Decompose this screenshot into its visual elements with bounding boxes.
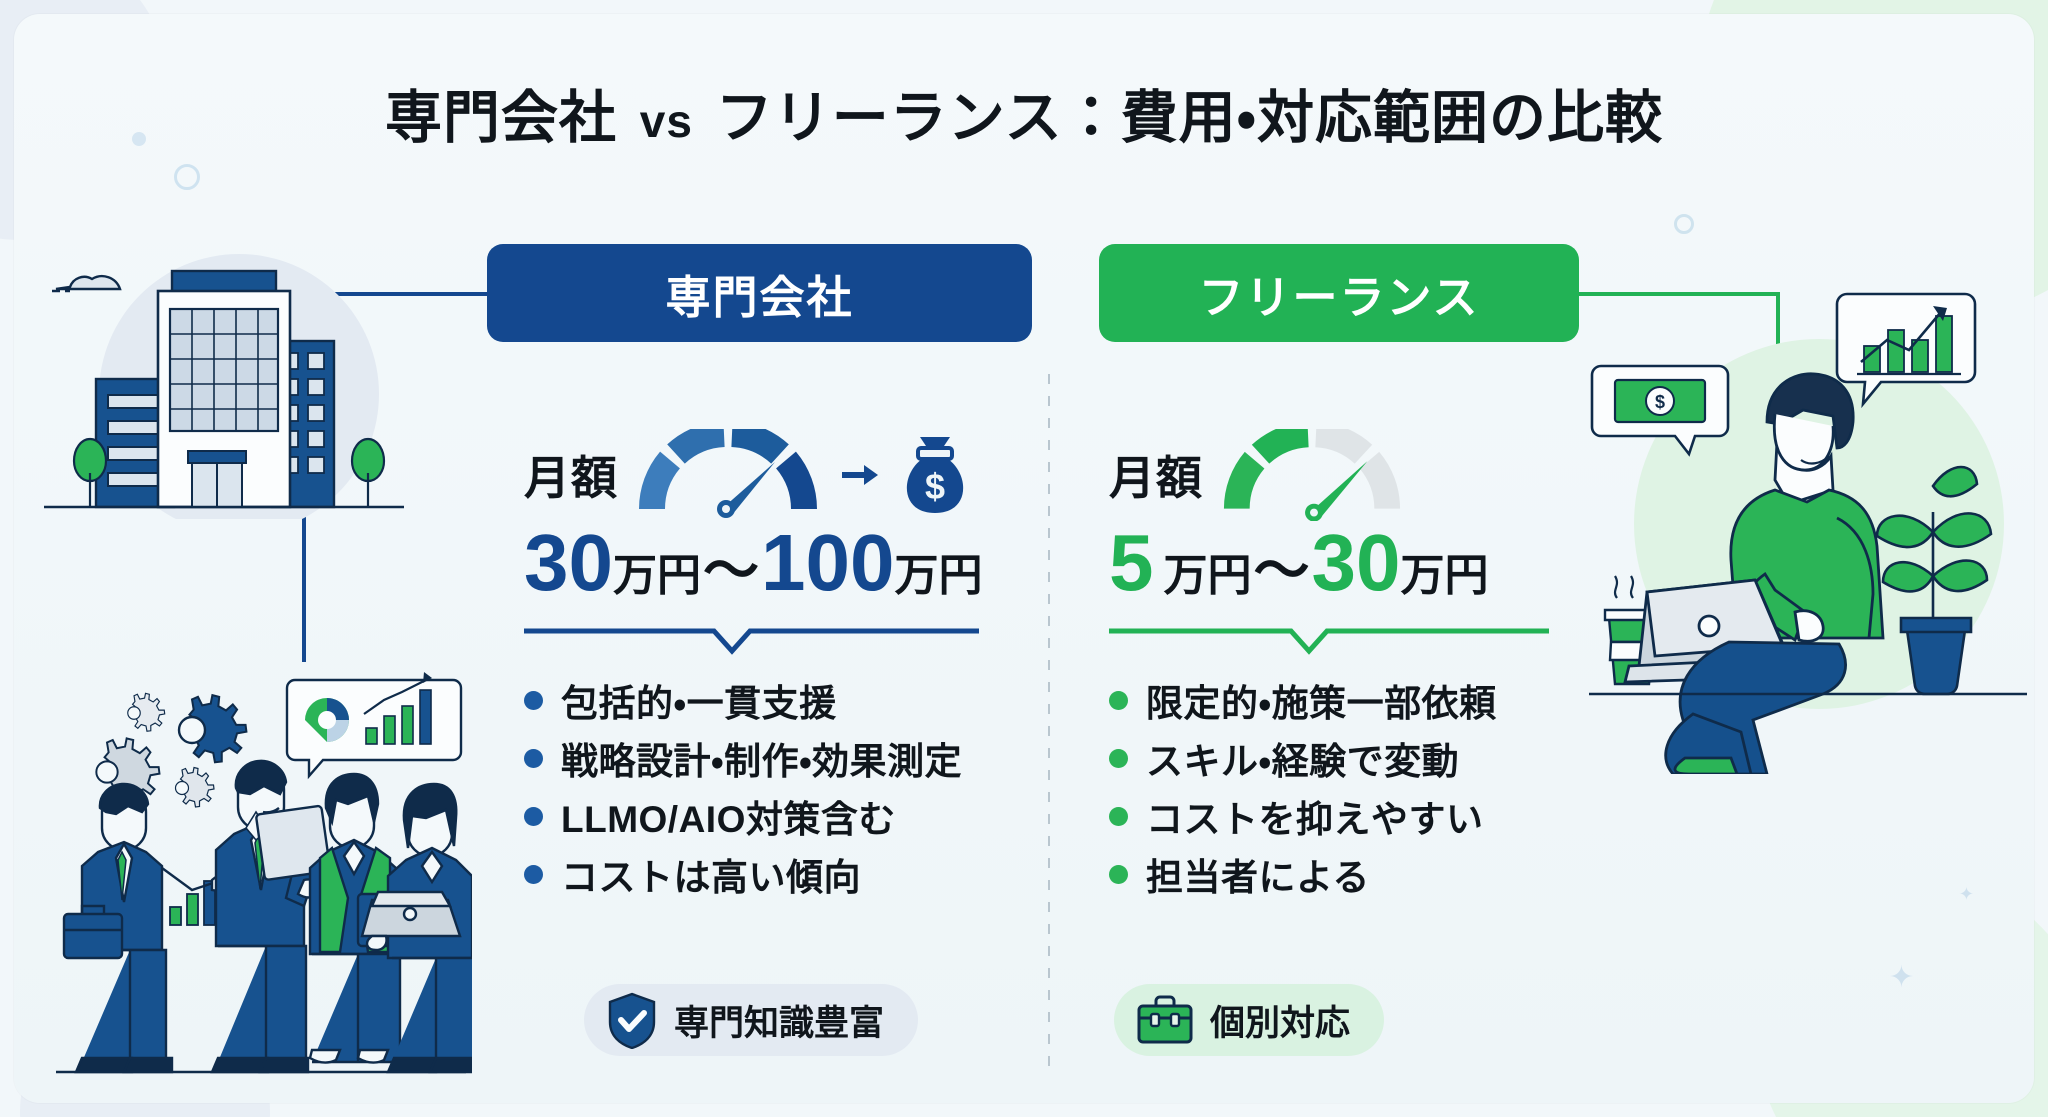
list-item-label: コストを抑えやすい bbox=[1146, 789, 1484, 843]
highlight-chip-specialized-company[interactable]: 専門知識豊富 bbox=[584, 984, 918, 1056]
list-item: 戦略設計・制作・効果測定 bbox=[524, 729, 1024, 787]
column-badge-freelance[interactable]: フリーランス bbox=[1099, 244, 1579, 342]
feature-list: 限定的・施策一部依頼 スキル・経験で変動 コストを抑えやすい 担当者による bbox=[1109, 671, 1599, 903]
page-title-part1: 専門会社 bbox=[385, 86, 617, 150]
list-item: スキル・経験で変動 bbox=[1109, 729, 1599, 787]
list-item-label: 包括的・一貫支援 bbox=[561, 673, 837, 727]
column-content-freelance: 月額 5 万円 〜 30 bbox=[1109, 429, 1599, 903]
arrow-right-icon bbox=[838, 455, 882, 495]
bullet-dot-icon bbox=[524, 749, 543, 768]
list-item-label: LLMO/AIO対策含む bbox=[561, 789, 896, 843]
price-min: 30 bbox=[524, 523, 613, 603]
office-building-illustration bbox=[34, 229, 414, 519]
gauge-icon bbox=[1217, 429, 1407, 521]
list-item: LLMO/AIO対策含む bbox=[524, 787, 1024, 845]
list-item-label: スキル・経験で変動 bbox=[1146, 731, 1459, 785]
bullet-dot-icon bbox=[1109, 749, 1128, 768]
price-min-unit: 万円 bbox=[1164, 554, 1252, 598]
list-item: 担当者による bbox=[1109, 845, 1599, 903]
price-separator: 〜 bbox=[1254, 543, 1310, 599]
highlight-chip-freelance[interactable]: 個別対応 bbox=[1114, 984, 1384, 1056]
shield-check-icon bbox=[606, 991, 658, 1049]
price-max-unit: 万円 bbox=[1400, 554, 1488, 598]
list-item-label: 担当者による bbox=[1146, 847, 1370, 901]
price-header: 月額 bbox=[1109, 429, 1599, 521]
column-badge-label: 専門会社 bbox=[665, 261, 853, 326]
price-range: 5 万円 〜 30 万円 bbox=[1109, 523, 1599, 603]
list-item-label: 限定的・施策一部依頼 bbox=[1146, 673, 1497, 727]
section-separator bbox=[1109, 625, 1549, 655]
price-range: 30 万円 〜 100 万円 bbox=[524, 523, 1024, 603]
freelancer-working-illustration: $ bbox=[1589, 274, 2029, 774]
highlight-chip-label: 個別対応 bbox=[1210, 995, 1350, 1046]
page-title-part2: フリーランス：費用・対応範囲の比較 bbox=[716, 86, 1663, 150]
bullet-dot-icon bbox=[524, 691, 543, 710]
price-max-unit: 万円 bbox=[894, 554, 982, 598]
feature-list: 包括的・一貫支援 戦略設計・制作・効果測定 LLMO/AIO対策含む コストは高… bbox=[524, 671, 1024, 903]
price-label: 月額 bbox=[1109, 442, 1203, 508]
sparkle-small-icon: ✦ bbox=[1959, 885, 1974, 903]
chart-bubble-icon bbox=[287, 672, 461, 776]
price-header: 月額 bbox=[524, 429, 1024, 521]
bullet-dot-icon bbox=[1109, 865, 1128, 884]
price-min-unit: 万円 bbox=[613, 554, 701, 598]
business-team-illustration bbox=[42, 662, 472, 1092]
list-item: コストは高い傾向 bbox=[524, 845, 1024, 903]
column-badge-specialized-company[interactable]: 専門会社 bbox=[487, 244, 1032, 342]
sparkle-icon: ✦ bbox=[1889, 963, 1914, 993]
bullet-dot-icon bbox=[1109, 691, 1128, 710]
list-item: 限定的・施策一部依頼 bbox=[1109, 671, 1599, 729]
decor-ring-small bbox=[174, 164, 200, 190]
briefcase-icon bbox=[1136, 994, 1194, 1046]
list-item-label: コストは高い傾向 bbox=[561, 847, 861, 901]
content-frame: ✦ ✦ 専門会社 vs フリーランス：費用・対応範囲の比較 専門会社 フリーラン… bbox=[14, 14, 2034, 1103]
price-min: 5 bbox=[1109, 523, 1154, 603]
bullet-dot-icon bbox=[524, 865, 543, 884]
list-item-label: 戦略設計・制作・効果測定 bbox=[561, 731, 962, 785]
bullet-dot-icon bbox=[524, 807, 543, 826]
column-content-specialized-company: 月額 bbox=[524, 429, 1024, 903]
svg-text:$: $ bbox=[925, 466, 945, 507]
gauge-icon bbox=[632, 429, 824, 521]
price-max: 30 bbox=[1312, 523, 1401, 603]
price-separator: 〜 bbox=[703, 543, 759, 599]
column-divider bbox=[1048, 374, 1050, 1074]
column-badge-label: フリーランス bbox=[1198, 261, 1479, 326]
highlight-chip-label: 専門知識豊富 bbox=[674, 995, 884, 1046]
money-bag-icon: $ bbox=[896, 431, 974, 519]
price-label: 月額 bbox=[524, 442, 618, 508]
section-separator bbox=[524, 625, 979, 655]
infographic-canvas: ✦ ✦ 専門会社 vs フリーランス：費用・対応範囲の比較 専門会社 フリーラン… bbox=[0, 0, 2048, 1117]
bullet-dot-icon bbox=[1109, 807, 1128, 826]
price-max: 100 bbox=[761, 523, 894, 603]
page-title-vs: vs bbox=[634, 95, 699, 147]
list-item: 包括的・一貫支援 bbox=[524, 671, 1024, 729]
page-title: 専門会社 vs フリーランス：費用・対応範囲の比較 bbox=[14, 72, 2034, 154]
decor-ring-tiny bbox=[1674, 214, 1694, 234]
list-item: コストを抑えやすい bbox=[1109, 787, 1599, 845]
svg-text:$: $ bbox=[1655, 392, 1665, 412]
